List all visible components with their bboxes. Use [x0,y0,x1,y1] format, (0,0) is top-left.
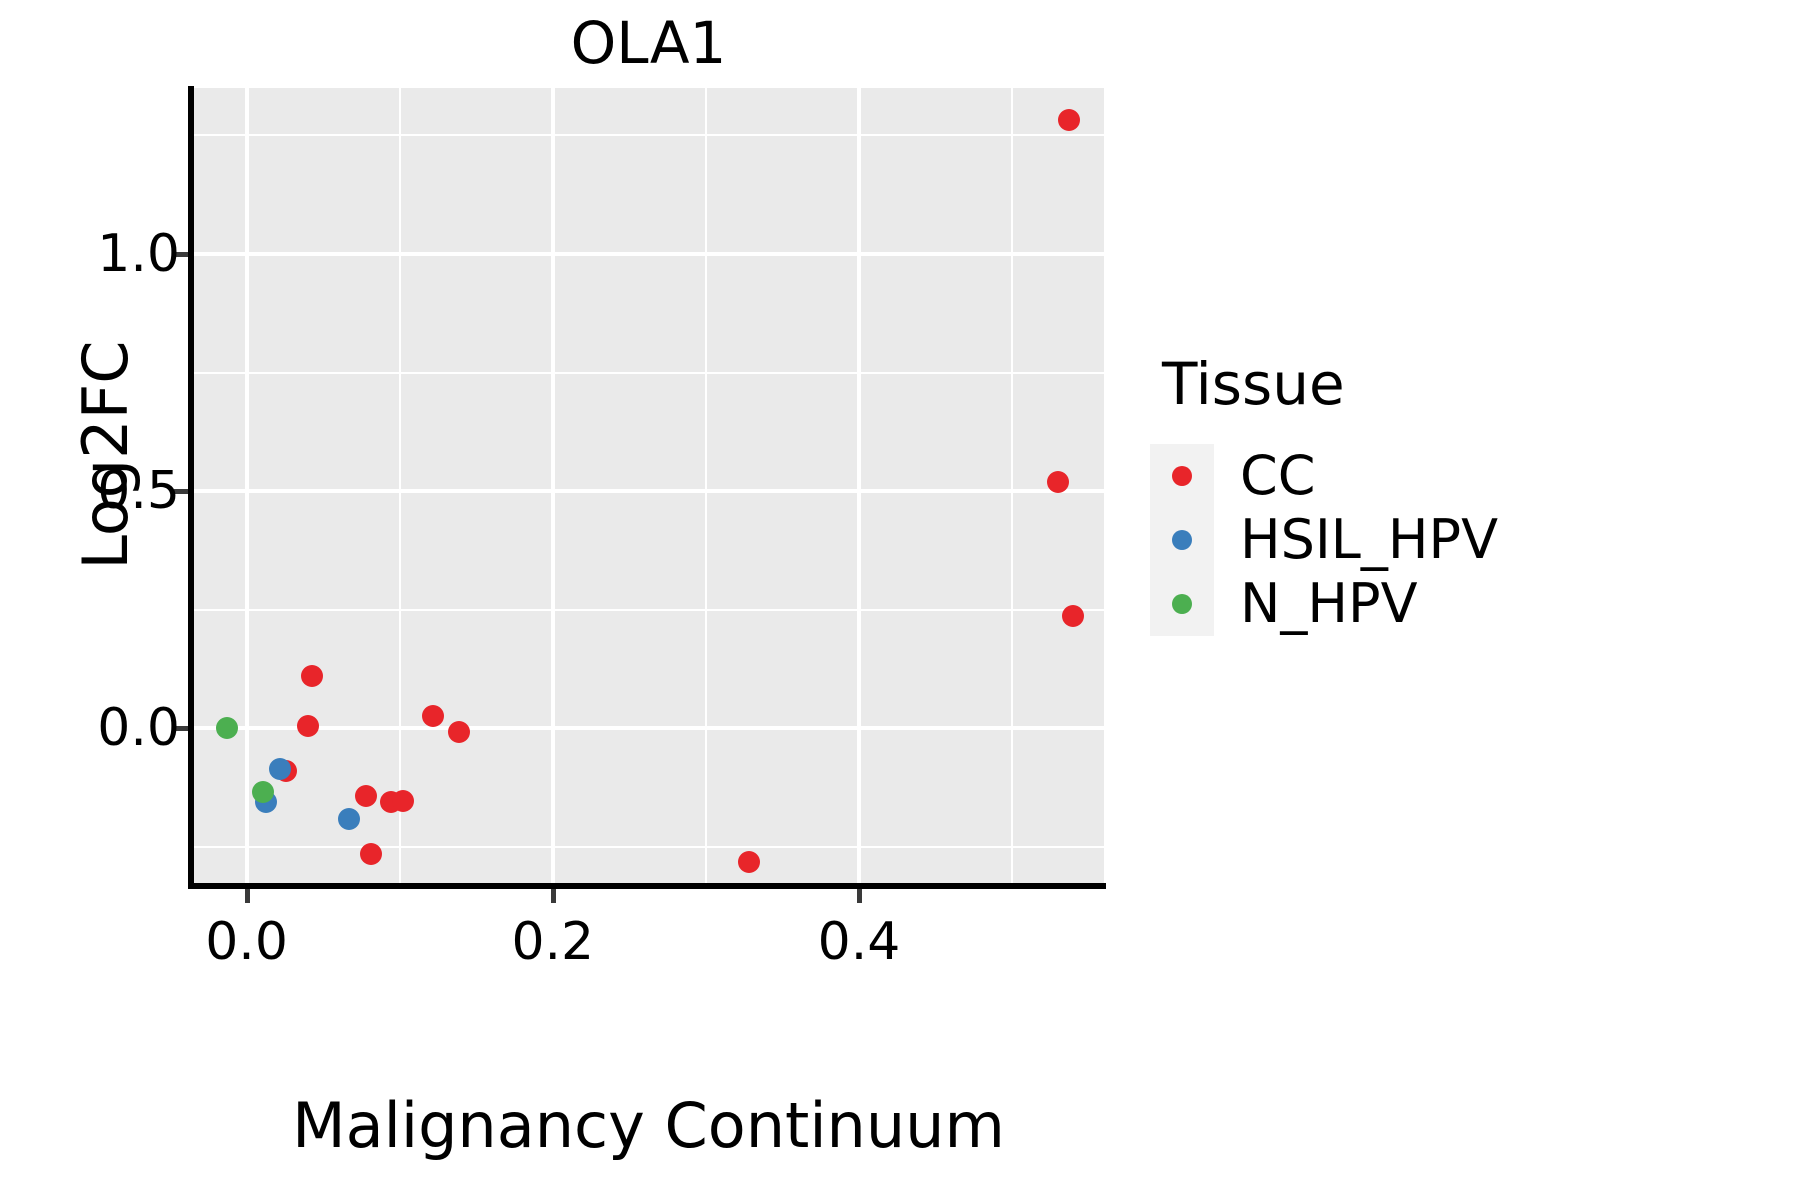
legend-key-swatch [1150,444,1214,508]
x-axis-tick-label: 0.4 [759,912,959,972]
gridline-vertical-major [857,88,861,885]
legend-dot-icon [1172,530,1192,550]
gridline-horizontal-minor [193,609,1104,611]
data-point-cc [1062,605,1084,627]
x-axis-tick [245,889,250,903]
gridline-vertical-minor [1011,88,1013,885]
x-axis-tick-label: 0.0 [147,912,347,972]
gridline-horizontal-minor [193,846,1104,848]
data-point-cc [301,665,323,687]
data-point-hsil_hpv [269,758,291,780]
legend-dot-icon [1172,594,1192,614]
legend-item-label: HSIL_HPV [1240,510,1498,570]
plot-panel [193,88,1104,885]
y-axis-line [188,86,194,887]
data-point-cc [1047,471,1069,493]
legend-items: CCHSIL_HPVN_HPV [1150,444,1710,636]
x-axis-line [188,883,1106,889]
gridline-horizontal-major [193,489,1104,493]
legend-item-n_hpv[interactable]: N_HPV [1150,572,1710,636]
data-point-cc [738,851,760,873]
page-title: OLA1 [193,8,1104,78]
legend-title: Tissue [1162,350,1710,418]
data-point-cc [360,843,382,865]
gridline-vertical-minor [399,88,401,885]
x-axis-label: Malignancy Continuum [193,1090,1104,1162]
gridline-vertical-minor [705,88,707,885]
data-point-hsil_hpv [338,808,360,830]
data-point-cc [297,715,319,737]
legend-key-swatch [1150,572,1214,636]
scatter-plot-figure: OLA1 0.00.51.00.00.20.4 Log2FC Malignanc… [0,0,1800,1200]
gridline-vertical-major [551,88,555,885]
data-point-n_hpv [216,717,238,739]
x-axis-tick [551,889,556,903]
data-point-cc [392,790,414,812]
gridline-horizontal-minor [193,134,1104,136]
legend-key-swatch [1150,508,1214,572]
x-axis-tick [857,889,862,903]
legend-item-label: N_HPV [1240,574,1418,634]
legend-dot-icon [1172,466,1192,486]
data-point-cc [448,721,470,743]
gridline-vertical-major [245,88,249,885]
x-axis-tick-label: 0.2 [453,912,653,972]
legend-item-cc[interactable]: CC [1150,444,1710,508]
legend-item-label: CC [1240,446,1315,506]
data-point-cc [355,785,377,807]
legend: Tissue CCHSIL_HPVN_HPV [1150,350,1710,636]
data-point-cc [1058,109,1080,131]
gridline-horizontal-major [193,726,1104,730]
gridline-horizontal-minor [193,372,1104,374]
gridline-horizontal-major [193,252,1104,256]
data-point-cc [422,705,444,727]
legend-item-hsil_hpv[interactable]: HSIL_HPV [1150,508,1710,572]
y-axis-label: Log2FC [71,105,141,805]
